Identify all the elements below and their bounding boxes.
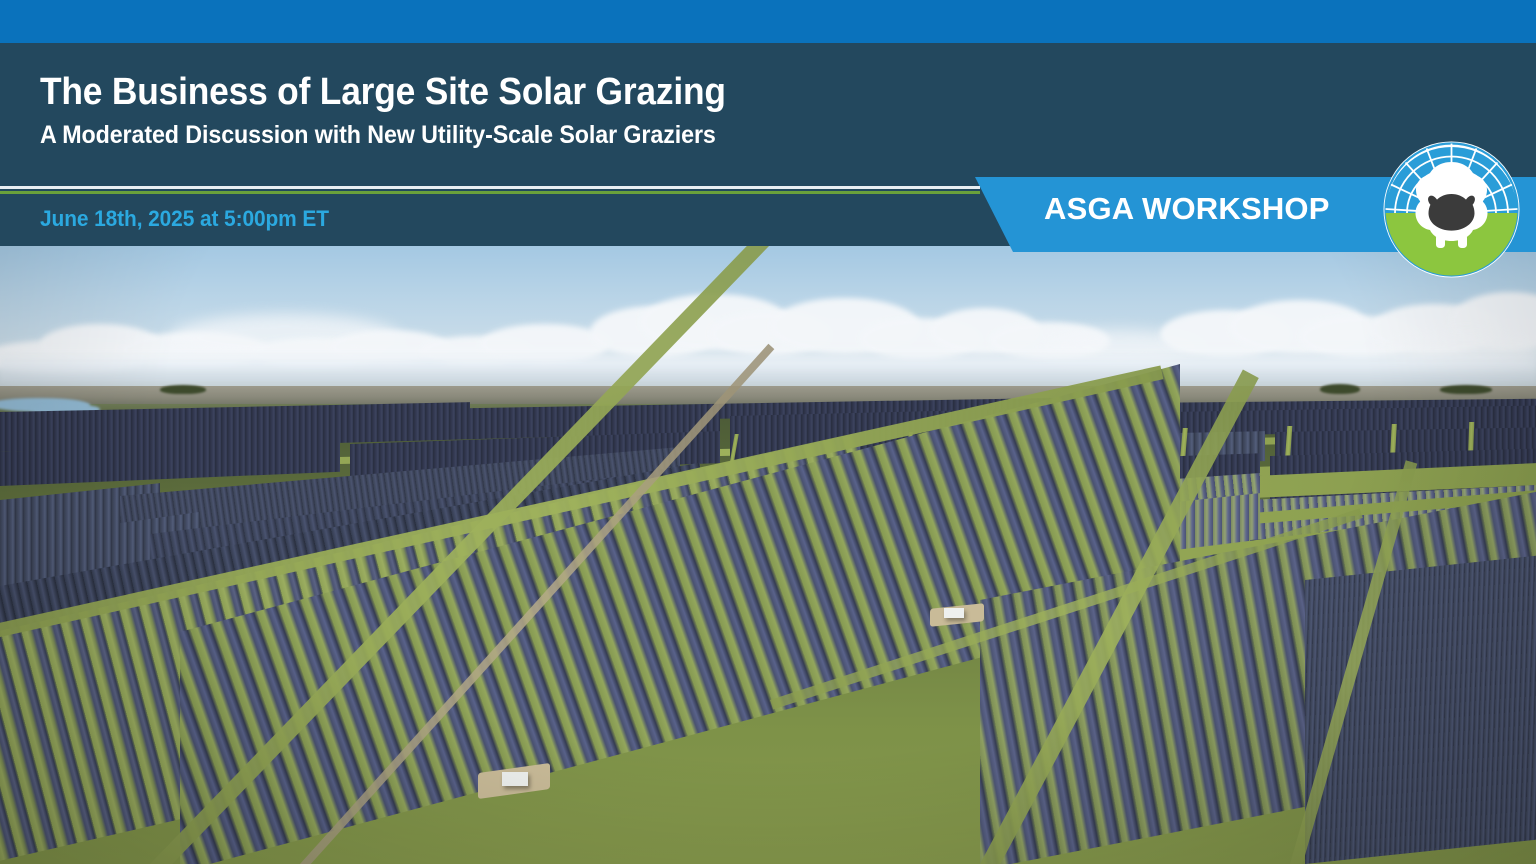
divider-white xyxy=(0,186,980,189)
page-title: The Business of Large Site Solar Grazing xyxy=(40,70,726,114)
divider-green xyxy=(0,191,980,194)
asga-sheep-solar-logo[interactable] xyxy=(1381,139,1522,280)
page-subtitle: A Moderated Discussion with New Utility-… xyxy=(40,118,726,152)
asga-workshop-banner: The Business of Large Site Solar Grazing… xyxy=(0,0,1536,864)
top-accent-bar xyxy=(0,0,1536,43)
ribbon-label: ASGA WORKSHOP xyxy=(1044,191,1330,227)
horizon-haze xyxy=(0,352,1536,382)
tree-clump-1 xyxy=(160,385,206,394)
event-date-time: June 18th, 2025 at 5:00pm ET xyxy=(40,206,329,232)
equipment-shed-fg-2 xyxy=(944,608,964,618)
tree-clump-2 xyxy=(1320,384,1360,394)
title-block: The Business of Large Site Solar Grazing… xyxy=(40,70,777,152)
equipment-shed-fg-1 xyxy=(502,772,528,786)
tree-clump-3 xyxy=(1440,385,1492,394)
